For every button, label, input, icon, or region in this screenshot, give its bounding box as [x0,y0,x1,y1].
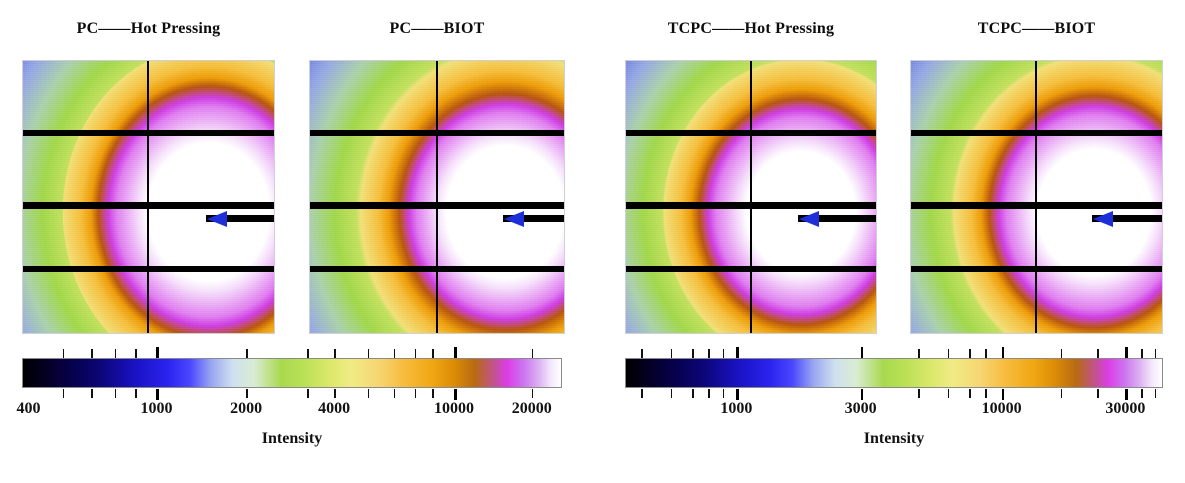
scattering-field [23,61,274,333]
colorbar-axis-title: Intensity [22,430,562,448]
colorbar-tick-4 [723,389,725,398]
colorbar-tick-1 [671,349,673,358]
panel-title-pc-hot-pressing: PC——Hot Pressing [22,20,275,38]
beamstop-arrow-icon [504,211,524,227]
colorbar-tick-0 [63,349,65,358]
colorbar-tick-9 [394,389,396,398]
colorbar-tick-1 [91,389,93,398]
colorbar-tick-10 [985,389,987,398]
colorbar-tick-4 [156,347,159,358]
detector-gap-vertical-0 [436,61,438,333]
colorbar-tick-6 [861,389,864,400]
colorbar-tick-5 [736,389,739,400]
colorbar-tick-12 [454,347,457,358]
colorbar-tick-2 [692,389,694,398]
beamstop-arrow-icon [799,211,819,227]
colorbar-tick-label: 10000 [434,400,474,418]
colorbar-tick-7 [334,349,336,358]
colorbar-tick-12 [454,389,457,400]
colorbar-tick-6 [861,347,864,358]
colorbar-tick-14 [1125,389,1128,400]
colorbar-tick-10 [985,349,987,358]
colorbar-tick-16 [1155,389,1157,398]
colorbar-tick-8 [368,349,370,358]
colorbar-tick-0 [641,349,643,358]
colorbar-tick-label: 20000 [512,400,552,418]
colorbar-tick-label: 3000 [845,400,877,418]
colorbar-tick-13 [1097,349,1099,358]
colorbar-tick-4 [156,389,159,400]
colorbar-tick-14 [1125,347,1128,358]
colorbar-tick-0 [641,389,643,398]
detector-gap-vertical-0 [1035,61,1037,333]
colorbar-axis-title: Intensity [625,430,1163,448]
detector-image-pc-biot [309,60,565,334]
panel-title-tcpc-hot-pressing: TCPC——Hot Pressing [625,20,877,38]
colorbar-tick-1 [671,389,673,398]
colorbar-tick-16 [1155,349,1157,358]
colorbar-tick-1 [91,349,93,358]
colorbar-tick-9 [969,389,971,398]
colorbar-tick-11 [432,389,434,398]
colorbar-tick-6 [307,349,309,358]
colorbar-tick-10 [415,349,417,358]
colorbar-tick-11 [1002,389,1005,400]
beamstop-arrow-icon [207,211,227,227]
colorbar-tick-6 [307,389,309,398]
colorbar-tick-label: 30000 [1105,400,1145,418]
panel-title-pc-biot: PC——BIOT [309,20,565,38]
colorbar-tick-label: 400 [16,400,40,418]
colorbar-left: 4001000200040001000020000Intensity [22,358,562,388]
colorbar-tick-8 [948,389,950,398]
beamstop-arrow-icon [1093,211,1113,227]
colorbar-tick-2 [692,349,694,358]
detector-gap-vertical-0 [750,61,752,333]
colorbar-tick-3 [135,389,137,398]
colorbar-tick-3 [708,349,710,358]
colorbar-tick-label: 4000 [318,400,350,418]
detector-image-tcpc-biot [910,60,1163,334]
detector-image-pc-hot-pressing [22,60,275,334]
colorbar-tick-7 [918,389,920,398]
colorbar-tick-12 [1061,389,1063,398]
colorbar-tick-11 [1002,347,1005,358]
colorbar-tick-13 [1097,389,1099,398]
colorbar-tick-13 [532,389,534,398]
colorbar-tick-7 [334,389,336,398]
scattering-field [911,61,1162,333]
colorbar-tick-5 [246,349,248,358]
colorbar-tick-15 [1141,349,1143,358]
colorbar-tick-15 [1141,389,1143,398]
colorbar-gradient [625,358,1163,388]
colorbar-tick-10 [415,389,417,398]
detector-gap-vertical-0 [147,61,149,333]
colorbar-tick-12 [1061,349,1063,358]
colorbar-tick-2 [115,389,117,398]
colorbar-tick-13 [532,349,534,358]
colorbar-tick-0 [63,389,65,398]
colorbar-tick-label: 1000 [720,400,752,418]
colorbar-tick-7 [918,349,920,358]
colorbar-tick-4 [723,349,725,358]
panel-title-tcpc-biot: TCPC——BIOT [910,20,1163,38]
colorbar-tick-9 [394,349,396,358]
colorbar-tick-8 [368,389,370,398]
scattering-field [626,61,876,333]
colorbar-tick-2 [115,349,117,358]
colorbar-tick-3 [708,389,710,398]
colorbar-tick-11 [432,349,434,358]
colorbar-right: 100030001000030000Intensity [625,358,1163,388]
colorbar-gradient [22,358,562,388]
colorbar-tick-label: 1000 [140,400,172,418]
detector-image-tcpc-hot-pressing [625,60,877,334]
colorbar-tick-3 [135,349,137,358]
colorbar-tick-5 [736,347,739,358]
colorbar-tick-label: 2000 [230,400,262,418]
scattering-field [310,61,564,333]
colorbar-tick-label: 10000 [982,400,1022,418]
colorbar-tick-8 [948,349,950,358]
colorbar-tick-5 [246,389,248,398]
colorbar-tick-9 [969,349,971,358]
